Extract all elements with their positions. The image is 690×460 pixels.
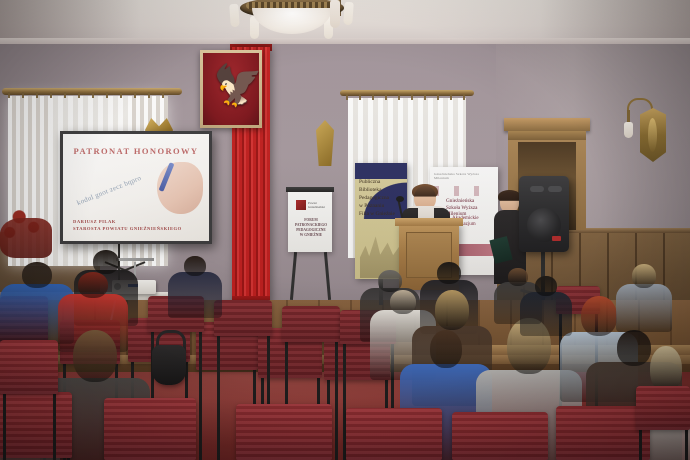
chair-leg bbox=[3, 394, 6, 460]
attendee-blonde-brown-head bbox=[435, 290, 469, 330]
handbag-on-chair bbox=[152, 345, 186, 385]
chair-right-2[interactable] bbox=[636, 386, 690, 430]
attendee-back-left-head bbox=[184, 256, 206, 276]
attendee-red-top-head bbox=[78, 272, 108, 298]
powiat-logo-icon bbox=[296, 200, 306, 210]
pa-speaker-tweeter bbox=[548, 186, 562, 192]
chair-leg bbox=[639, 430, 642, 460]
chandelier-bulb bbox=[229, 4, 240, 28]
attendee-back-right-torso bbox=[520, 292, 572, 336]
attendee-white-blouse-head bbox=[390, 290, 416, 314]
curtain-rings-left bbox=[8, 92, 176, 98]
attendee-striped-blazer-head bbox=[73, 330, 117, 382]
attendee-blonde-back-head bbox=[632, 264, 656, 288]
chair-row-3-2[interactable] bbox=[214, 300, 272, 336]
banner-line: Biblioteka bbox=[359, 186, 405, 194]
sconce-reflector bbox=[648, 118, 657, 152]
chair-row-2-1[interactable] bbox=[0, 340, 58, 394]
chair-row-front-5[interactable] bbox=[452, 412, 548, 460]
banner-line: Filia w Gnieźnie bbox=[359, 210, 405, 218]
attendee-back-mid-head bbox=[508, 268, 528, 286]
chair-leg bbox=[53, 394, 56, 460]
chair-leg bbox=[199, 332, 202, 460]
door-cornice bbox=[504, 118, 590, 131]
chair-leg bbox=[335, 342, 338, 460]
slide-subtitle: DARIUSZ PILAK STAROSTA POWIATU GNIEŹNIEŃ… bbox=[73, 219, 203, 232]
chair-row-front-2[interactable] bbox=[104, 398, 196, 460]
slide-subtitle-line2: STAROSTA POWIATU GNIEŹNIEŃSKIEGO bbox=[73, 226, 203, 232]
projector-stand-top bbox=[116, 258, 154, 261]
banner-line: Publiczna bbox=[359, 178, 405, 186]
chair-leg bbox=[217, 336, 220, 460]
banner-milenium-dots bbox=[434, 186, 494, 196]
attendee-grey-hair-head bbox=[378, 270, 402, 292]
attendee-blonde-back-torso bbox=[616, 284, 672, 332]
conference-hall-photo: 🦅 PATRONAT HONOROWY kodul gnot zecz bqpr… bbox=[0, 0, 690, 460]
banner-milenium-header: Gnieźnieńska Szkoła Wyższa Milenium bbox=[434, 172, 494, 180]
flower-arrangement-base bbox=[0, 218, 52, 258]
attendee-back-left-torso bbox=[168, 272, 222, 318]
banner-milenium-main: Gnieźnieńska Szkoła Wyższa Milenium bbox=[446, 198, 496, 218]
ceiling-pendant-bulb bbox=[330, 0, 340, 28]
easel-poster-text: FORUM PATRONACKIEGO PEDAGOGICZNE W GNIEŹ… bbox=[292, 218, 330, 238]
chair-row-front-3[interactable] bbox=[236, 404, 332, 460]
attendee-navy-suit-head bbox=[437, 262, 461, 284]
banner-milenium-line1: Gnieźnieńska bbox=[446, 198, 496, 205]
chair-row-3-3[interactable] bbox=[282, 306, 340, 342]
chandelier-bulb bbox=[343, 2, 354, 26]
attendee-redhead-head bbox=[581, 296, 617, 336]
sconce-bulb bbox=[624, 122, 633, 138]
banner-milenium-line2: Szkoła Wyższa bbox=[446, 205, 496, 212]
attendee-scarf-blue-head bbox=[430, 330, 462, 368]
easel-logo-caption: Powiat Gnieźnieński bbox=[308, 201, 330, 209]
door-cornice-lower bbox=[508, 131, 586, 140]
eagle-icon: 🦅 bbox=[213, 60, 249, 114]
pa-speaker-badge bbox=[552, 236, 561, 241]
attendee-dark-right-head bbox=[617, 330, 651, 366]
projection-screen: PATRONAT HONOROWY kodul gnot zecz bqpro … bbox=[63, 134, 209, 241]
attendee-blue-top-head bbox=[22, 262, 52, 288]
easel-clamp bbox=[286, 187, 334, 192]
chandelier-dome bbox=[252, 8, 332, 34]
attendee-dark-jacket-head bbox=[93, 250, 119, 274]
curtain-rings-right bbox=[346, 94, 470, 100]
chair-row-front-4[interactable] bbox=[346, 408, 442, 460]
chair-row-front-1[interactable] bbox=[0, 392, 72, 458]
lectern-top bbox=[395, 218, 463, 226]
attendee-back-right-head bbox=[535, 276, 557, 296]
easel-poster-line4: W GNIEŹNIE bbox=[292, 233, 330, 238]
pa-speaker-tweeter bbox=[530, 186, 544, 192]
chair-leg bbox=[685, 430, 688, 460]
slide-title: PATRONAT HONOROWY bbox=[63, 146, 209, 156]
microphone-head bbox=[396, 196, 404, 202]
